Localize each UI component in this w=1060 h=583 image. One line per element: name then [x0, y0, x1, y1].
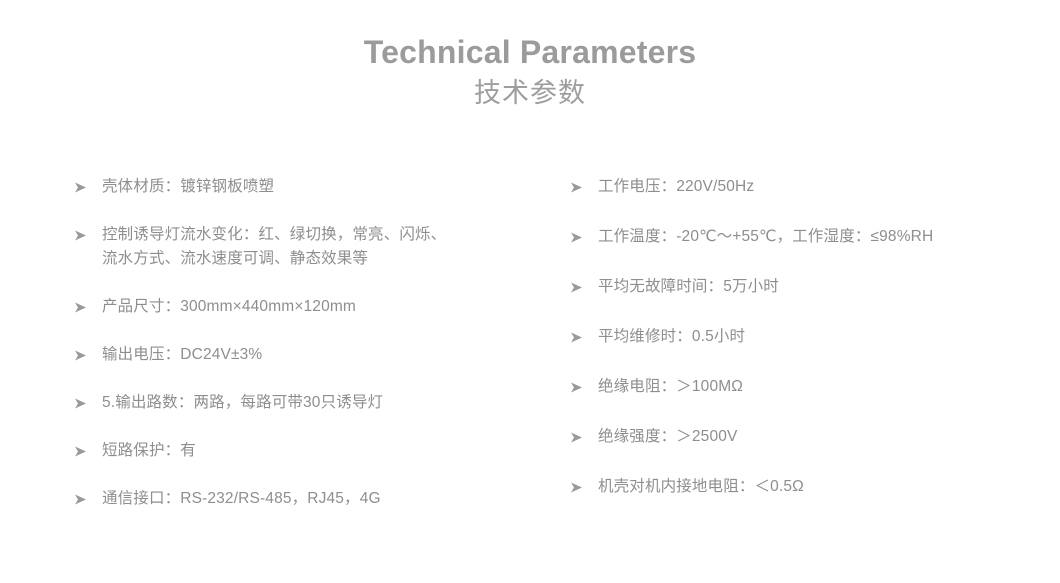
list-item-label: 平均维修时：0.5小时: [598, 325, 1030, 349]
arrow-right-triangle-icon: [74, 487, 87, 511]
list-item-label: 绝缘电阻：＞100MΩ: [598, 375, 1030, 399]
arrow-right-triangle-icon: [570, 375, 583, 399]
list-item-label: 5.输出路数：两路，每路可带30只诱导灯: [102, 391, 544, 415]
arrow-right-triangle-icon: [74, 223, 87, 247]
list-item: 机壳对机内接地电阻：＜0.5Ω: [570, 475, 1030, 499]
arrow-right-triangle-icon: [570, 425, 583, 449]
list-item: 输出电压：DC24V±3%: [74, 343, 544, 367]
list-item-label: 壳体材质：镀锌钢板喷塑: [102, 175, 544, 199]
page-title-chinese: 技术参数: [0, 74, 1060, 112]
specifications-columns: 壳体材质：镀锌钢板喷塑 控制诱导灯流水变化：红、绿切换，常亮、闪烁、 流水方式、…: [0, 175, 1060, 575]
list-item: 5.输出路数：两路，每路可带30只诱导灯: [74, 391, 544, 415]
list-item-label: 短路保护：有: [102, 439, 544, 463]
arrow-right-triangle-icon: [74, 175, 87, 199]
list-item: 平均维修时：0.5小时: [570, 325, 1030, 349]
list-item-label: 工作电压：220V/50Hz: [598, 175, 1030, 199]
technical-parameters-page: Technical Parameters 技术参数 壳体材质：镀锌钢板喷塑 控制…: [0, 0, 1060, 583]
list-item: 控制诱导灯流水变化：红、绿切换，常亮、闪烁、 流水方式、流水速度可调、静态效果等: [74, 223, 544, 271]
arrow-right-triangle-icon: [570, 175, 583, 199]
list-item-label: 机壳对机内接地电阻：＜0.5Ω: [598, 475, 1030, 499]
arrow-right-triangle-icon: [74, 439, 87, 463]
list-item-label: 平均无故障时间：5万小时: [598, 275, 1030, 299]
list-item: 工作电压：220V/50Hz: [570, 175, 1030, 199]
list-item-label: 控制诱导灯流水变化：红、绿切换，常亮、闪烁、 流水方式、流水速度可调、静态效果等: [102, 223, 544, 271]
arrow-right-triangle-icon: [570, 275, 583, 299]
arrow-right-triangle-icon: [570, 475, 583, 499]
list-item: 绝缘强度：＞2500V: [570, 425, 1030, 449]
specifications-left-column: 壳体材质：镀锌钢板喷塑 控制诱导灯流水变化：红、绿切换，常亮、闪烁、 流水方式、…: [74, 175, 544, 535]
list-item: 短路保护：有: [74, 439, 544, 463]
list-item: 平均无故障时间：5万小时: [570, 275, 1030, 299]
arrow-right-triangle-icon: [74, 343, 87, 367]
arrow-right-triangle-icon: [570, 225, 583, 249]
list-item-label: 工作温度：-20℃～+55℃，工作湿度：≤98%RH: [598, 225, 1030, 249]
list-item-label: 产品尺寸：300mm×440mm×120mm: [102, 295, 544, 319]
arrow-right-triangle-icon: [74, 391, 87, 415]
list-item: 壳体材质：镀锌钢板喷塑: [74, 175, 544, 199]
page-title-english: Technical Parameters: [0, 32, 1060, 72]
list-item-label: 输出电压：DC24V±3%: [102, 343, 544, 367]
arrow-right-triangle-icon: [74, 295, 87, 319]
list-item: 工作温度：-20℃～+55℃，工作湿度：≤98%RH: [570, 225, 1030, 249]
list-item: 通信接口：RS-232/RS-485，RJ45，4G: [74, 487, 544, 511]
list-item-label: 通信接口：RS-232/RS-485，RJ45，4G: [102, 487, 544, 511]
specifications-right-column: 工作电压：220V/50Hz 工作温度：-20℃～+55℃，工作湿度：≤98%R…: [570, 175, 1030, 525]
page-heading: Technical Parameters 技术参数: [0, 32, 1060, 112]
list-item: 产品尺寸：300mm×440mm×120mm: [74, 295, 544, 319]
list-item-label: 绝缘强度：＞2500V: [598, 425, 1030, 449]
list-item: 绝缘电阻：＞100MΩ: [570, 375, 1030, 399]
arrow-right-triangle-icon: [570, 325, 583, 349]
